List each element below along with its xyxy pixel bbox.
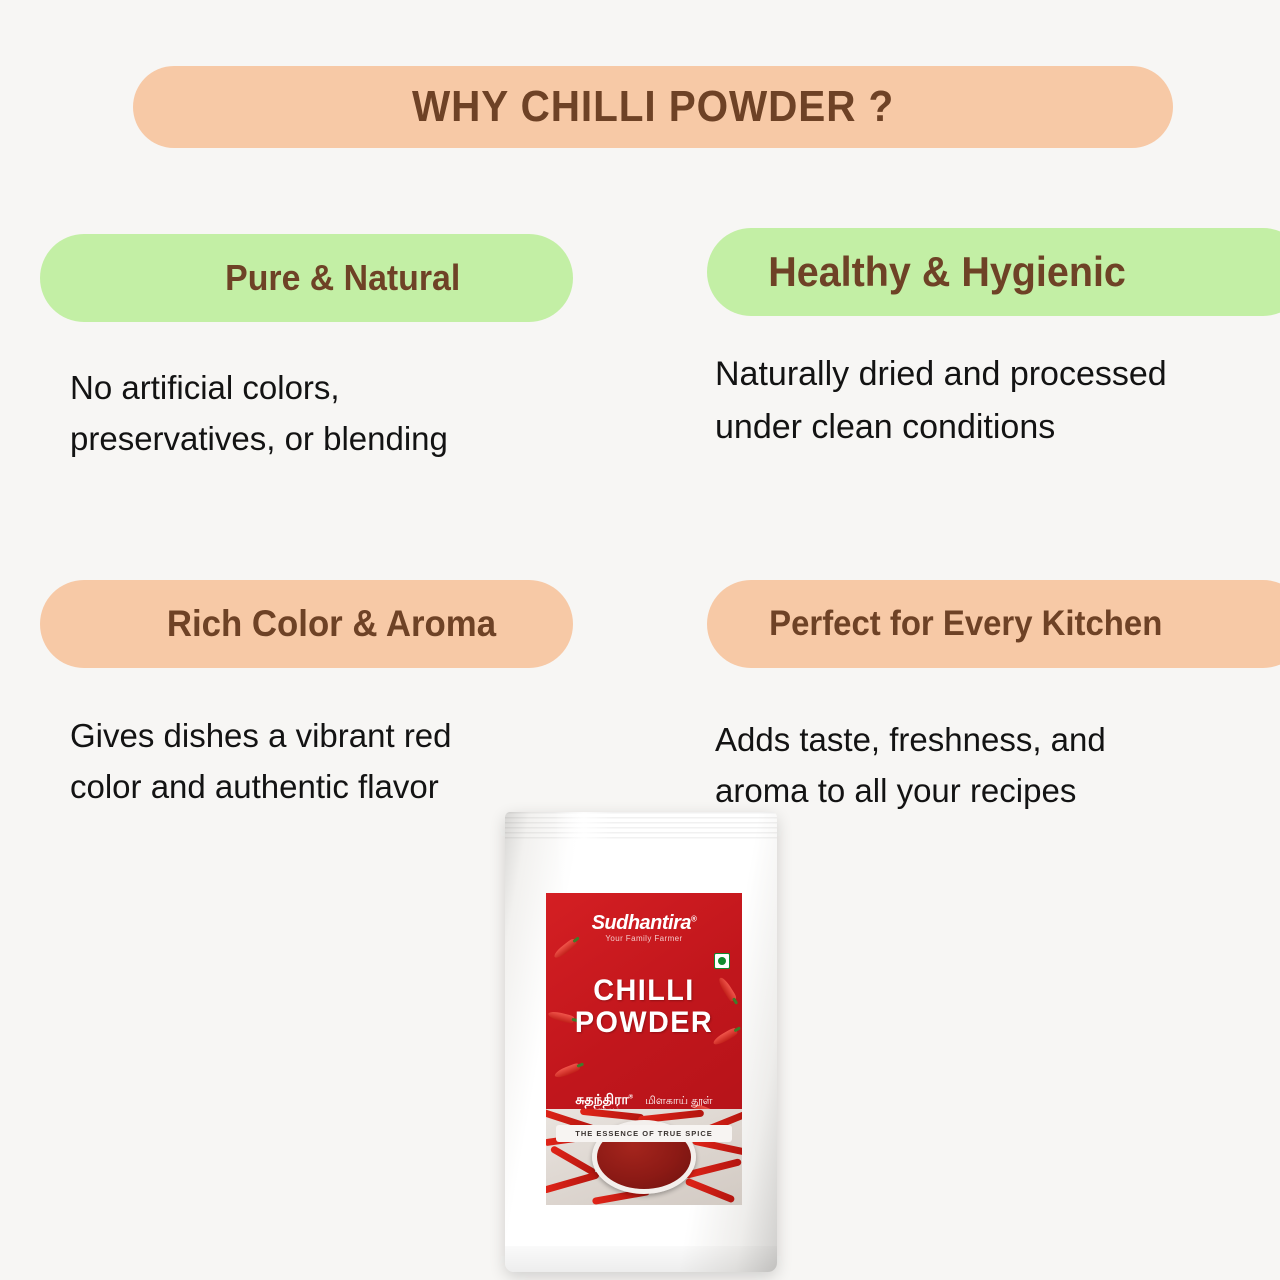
feature-pill-pure-natural: Pure & Natural: [40, 234, 573, 322]
feature-body-perfect-every-kitchen: Adds taste, freshness, and aroma to all …: [715, 714, 1235, 816]
product-pouch-image: Sudhantira® Your Family Farmer CHILLI PO…: [505, 812, 777, 1272]
brand-tagline: Your Family Farmer: [546, 934, 742, 943]
product-name-line2: POWDER: [550, 1007, 738, 1039]
feature-body-healthy-hygienic: Naturally dried and processed under clea…: [715, 348, 1260, 453]
chilli-decor-icon: [553, 1062, 580, 1079]
pouch-bottom-seal: [505, 1246, 777, 1272]
pouch-top-seal: [505, 812, 777, 840]
feature-heading-healthy-hygienic: Healthy & Hygienic: [768, 248, 1246, 296]
product-label: Sudhantira® Your Family Farmer CHILLI PO…: [546, 893, 742, 1205]
registered-mark-icon: ®: [629, 1094, 633, 1100]
tamil-brand-text: சுதந்திரா: [575, 1091, 628, 1107]
tamil-product-name: மிளகாய் தூள்: [645, 1092, 713, 1109]
feature-body-pure-natural: No artificial colors, preservatives, or …: [70, 362, 590, 464]
feature-heading-perfect-every-kitchen: Perfect for Every Kitchen: [769, 604, 1245, 644]
feature-body-rich-color-aroma: Gives dishes a vibrant red color and aut…: [70, 710, 590, 812]
chilli-photo-icon: [550, 1145, 597, 1176]
brand-name-text: Sudhantira: [592, 912, 691, 934]
registered-mark-icon: ®: [691, 914, 696, 923]
product-name: CHILLI POWDER: [550, 975, 738, 1040]
brand-name: Sudhantira®: [546, 912, 742, 935]
product-photo: [546, 1109, 742, 1205]
product-strapline: THE ESSENCE OF TRUE SPICE: [556, 1125, 732, 1142]
feature-heading-pure-natural: Pure & Natural: [152, 257, 460, 299]
chilli-photo-icon: [580, 1109, 644, 1121]
page-title: WHY CHILLI POWDER ?: [412, 82, 894, 132]
feature-heading-rich-color-aroma: Rich Color & Aroma: [117, 603, 497, 645]
feature-pill-rich-color-aroma: Rich Color & Aroma: [40, 580, 573, 668]
chilli-photo-icon: [546, 1171, 600, 1194]
page-title-banner: WHY CHILLI POWDER ?: [133, 66, 1173, 148]
feature-pill-perfect-every-kitchen: Perfect for Every Kitchen: [707, 580, 1280, 668]
feature-pill-healthy-hygienic: Healthy & Hygienic: [707, 228, 1280, 316]
product-name-line1: CHILLI: [550, 975, 738, 1007]
chilli-photo-icon: [685, 1178, 736, 1204]
vegetarian-mark-icon: [714, 953, 730, 969]
